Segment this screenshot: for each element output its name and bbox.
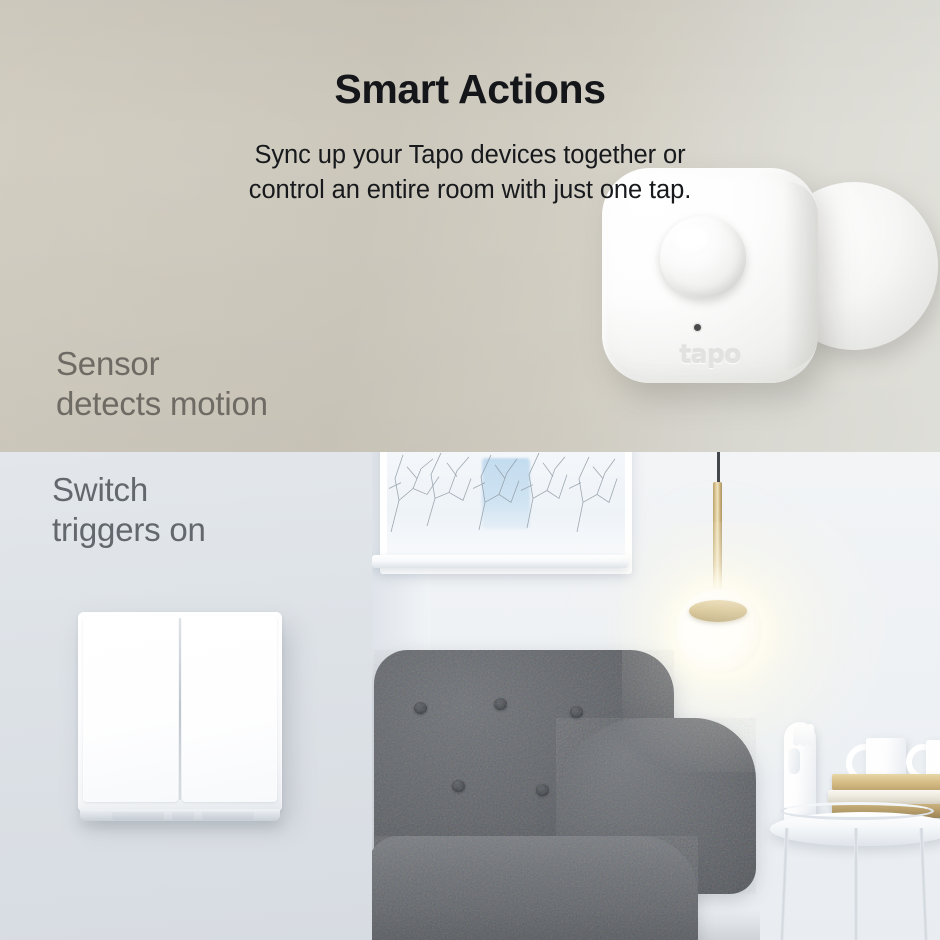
wall-switch-device [78, 612, 282, 812]
switch-notch [172, 812, 194, 820]
step-label-sensor: Sensor detects motion [56, 344, 268, 424]
switch-faceplate [78, 612, 282, 812]
window-sill [372, 555, 628, 568]
page-subtitle: Sync up your Tapo devices together or co… [0, 138, 940, 208]
side-table-leg [779, 828, 789, 940]
pendant-cord [717, 452, 720, 484]
promo-banner: Smart Actions Sync up your Tapo devices … [0, 0, 940, 940]
pendant-brass-hub [689, 600, 747, 622]
side-table-leg [919, 828, 929, 940]
book [832, 774, 940, 790]
hand-thumb [788, 748, 800, 774]
switch-divider [179, 618, 181, 800]
step-label-switch-line-1: Switch [52, 470, 206, 510]
step-label-sensor-line-1: Sensor [56, 344, 268, 384]
status-led-icon [694, 324, 701, 331]
switch-notch [202, 812, 254, 820]
subtitle-line-2: control an entire room with just one tap… [0, 173, 940, 208]
room-photo [372, 452, 940, 940]
armchair-shadow [372, 910, 760, 940]
side-table [770, 716, 940, 940]
side-table-ring [780, 802, 934, 820]
tree-branches-icon [387, 452, 625, 534]
subtitle-line-1: Sync up your Tapo devices together or [0, 138, 940, 173]
step-label-switch-line-2: triggers on [52, 510, 206, 550]
rocker-right-icon[interactable] [182, 616, 277, 802]
pir-dome-lens-icon [660, 216, 746, 298]
tapo-brand-logo: tapo [648, 340, 772, 369]
rocker-left-icon[interactable] [83, 616, 178, 802]
step-label-switch: Switch triggers on [52, 470, 206, 550]
switch-notch [112, 812, 164, 820]
page-title: Smart Actions [0, 66, 940, 113]
armchair [372, 640, 760, 940]
step-label-sensor-line-2: detects motion [56, 384, 268, 424]
side-table-leg [854, 828, 858, 940]
